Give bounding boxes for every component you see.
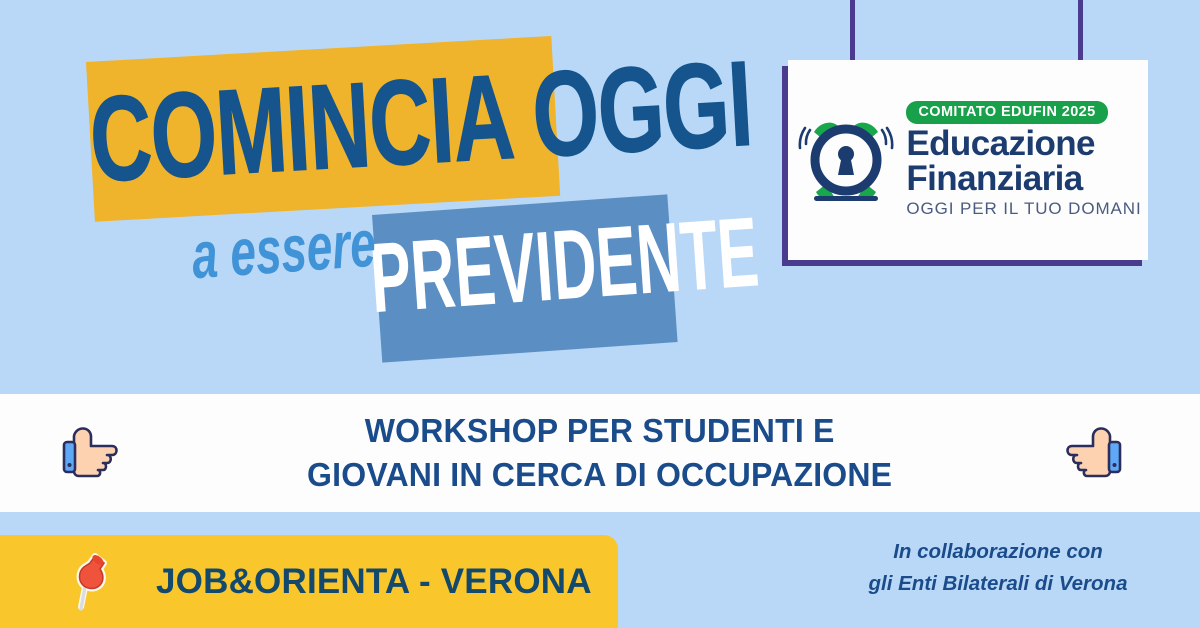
venue-label: JOB&ORIENTA - VERONA	[156, 562, 592, 602]
headline-line-3-text: PREVIDENTE	[367, 203, 761, 329]
venue-bar: JOB&ORIENTA - VERONA	[0, 535, 618, 628]
pointing-hand-left-icon	[1058, 420, 1132, 486]
edufin-logo: COMITATO EDUFIN 2025 Educazione Finanzia…	[788, 60, 1148, 260]
edufin-title-line-2: Finanziaria	[906, 162, 1082, 197]
push-pin-icon	[72, 551, 112, 613]
headline-line-1: COMINCIA OGGI	[86, 35, 614, 214]
workshop-text: WORKSHOP PER STUDENTI E GIOVANI IN CERCA…	[307, 409, 892, 497]
workshop-line-2: GIOVANI IN CERCA DI OCCUPAZIONE	[307, 453, 892, 497]
hanging-sign: COMITATO EDUFIN 2025 Educazione Finanzia…	[770, 0, 1170, 290]
workshop-line-1: WORKSHOP PER STUDENTI E	[307, 409, 892, 453]
edufin-badge: COMITATO EDUFIN 2025	[906, 101, 1107, 124]
headline-line-1-text: COMINCIA OGGI	[87, 42, 755, 200]
poster-canvas: COMINCIA OGGI PREVIDENTE a essere	[0, 0, 1200, 628]
pointing-hand-right-icon	[52, 420, 126, 486]
edufin-title-line-1: Educazione	[906, 127, 1094, 162]
collaboration-line-2: gli Enti Bilaterali di Verona	[820, 568, 1176, 600]
headline-line-2-text: a essere	[190, 210, 378, 289]
alarm-clock-keyhole-icon	[794, 108, 898, 212]
collaboration-line-1: In collaborazione con	[820, 536, 1176, 568]
workshop-band: WORKSHOP PER STUDENTI E GIOVANI IN CERCA…	[0, 394, 1200, 512]
edufin-logo-text: COMITATO EDUFIN 2025 Educazione Finanzia…	[906, 101, 1141, 219]
edufin-tagline: OGGI PER IL TUO DOMANI	[906, 199, 1141, 219]
headline-line-3: PREVIDENTE	[366, 191, 704, 346]
collaboration-note: In collaborazione con gli Enti Bilateral…	[820, 536, 1176, 600]
hero-section: COMINCIA OGGI PREVIDENTE a essere	[0, 0, 1200, 394]
